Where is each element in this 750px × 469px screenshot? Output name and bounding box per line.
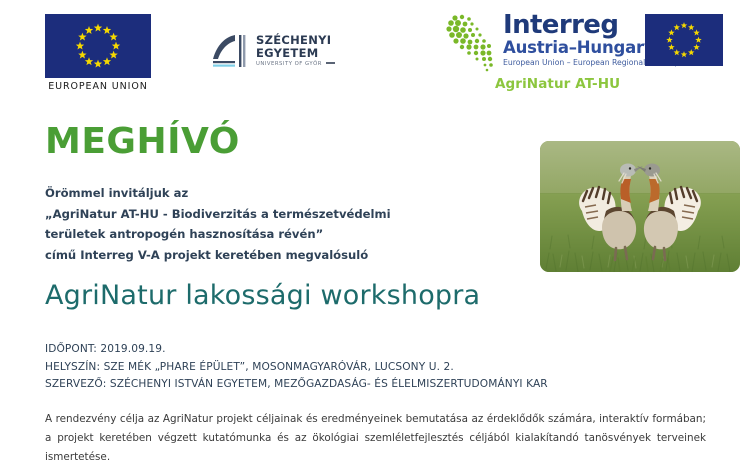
szechenyi-mark-icon bbox=[211, 33, 249, 69]
szechenyi-logo-text: SZÉCHENYI EGYETEM UNIVERSITY OF GYŐR bbox=[256, 33, 335, 67]
interreg-logo: Interreg Austria–Hungary European Union … bbox=[443, 12, 733, 92]
invitation-line: című Interreg V-A projekt keretében megv… bbox=[45, 245, 465, 266]
szechenyi-university-logo: SZÉCHENYI EGYETEM UNIVERSITY OF GYŐR bbox=[211, 33, 335, 69]
eu-logo-caption: EUROPEAN UNION bbox=[45, 81, 151, 92]
event-details: IDŐPONT: 2019.09.19. HELYSZÍN: SZE MÉK „… bbox=[45, 341, 548, 394]
invitation-line: területek antropogén hasznosítása révén” bbox=[45, 224, 465, 245]
interreg-dots-icon bbox=[443, 12, 499, 74]
szechenyi-logo-line2: EGYETEM bbox=[256, 47, 335, 60]
event-detail-venue: HELYSZÍN: SZE MÉK „PHARE ÉPÜLET”, MOSONM… bbox=[45, 359, 548, 377]
bustard-photo bbox=[540, 141, 740, 272]
interreg-eu-stars-icon bbox=[645, 14, 723, 66]
invitation-line: Örömmel invitáljuk az bbox=[45, 183, 465, 204]
szechenyi-logo-line1: SZÉCHENYI bbox=[256, 34, 335, 47]
invitation-line: „AgriNatur AT-HU - Biodiverzitás a termé… bbox=[45, 204, 465, 225]
interreg-tagline: AgriNatur AT-HU bbox=[495, 76, 733, 92]
event-detail-date: IDŐPONT: 2019.09.19. bbox=[45, 341, 548, 359]
event-description: A rendezvény célja az AgriNatur projekt … bbox=[45, 410, 706, 467]
eu-stars-icon bbox=[45, 14, 151, 78]
interreg-eu-flag-icon bbox=[645, 14, 723, 66]
invitation-text: Örömmel invitáljuk az „AgriNatur AT-HU -… bbox=[45, 183, 465, 265]
szechenyi-dash-icon bbox=[326, 62, 335, 64]
szechenyi-subtitle-text: UNIVERSITY OF GYŐR bbox=[256, 61, 322, 67]
eu-flag-icon bbox=[45, 14, 151, 78]
header-logo-bar: EUROPEAN UNION SZÉCHENYI EGYETEM UNIVERS… bbox=[0, 0, 750, 110]
european-union-logo: EUROPEAN UNION bbox=[45, 14, 151, 92]
event-detail-organizer: SZERVEZŐ: SZÉCHENYI ISTVÁN EGYETEM, MEZŐ… bbox=[45, 376, 548, 394]
szechenyi-logo-subtitle: UNIVERSITY OF GYŐR bbox=[256, 61, 335, 67]
page-title: MEGHÍVÓ bbox=[45, 122, 240, 162]
workshop-title: AgriNatur lakossági workshopra bbox=[45, 279, 480, 313]
